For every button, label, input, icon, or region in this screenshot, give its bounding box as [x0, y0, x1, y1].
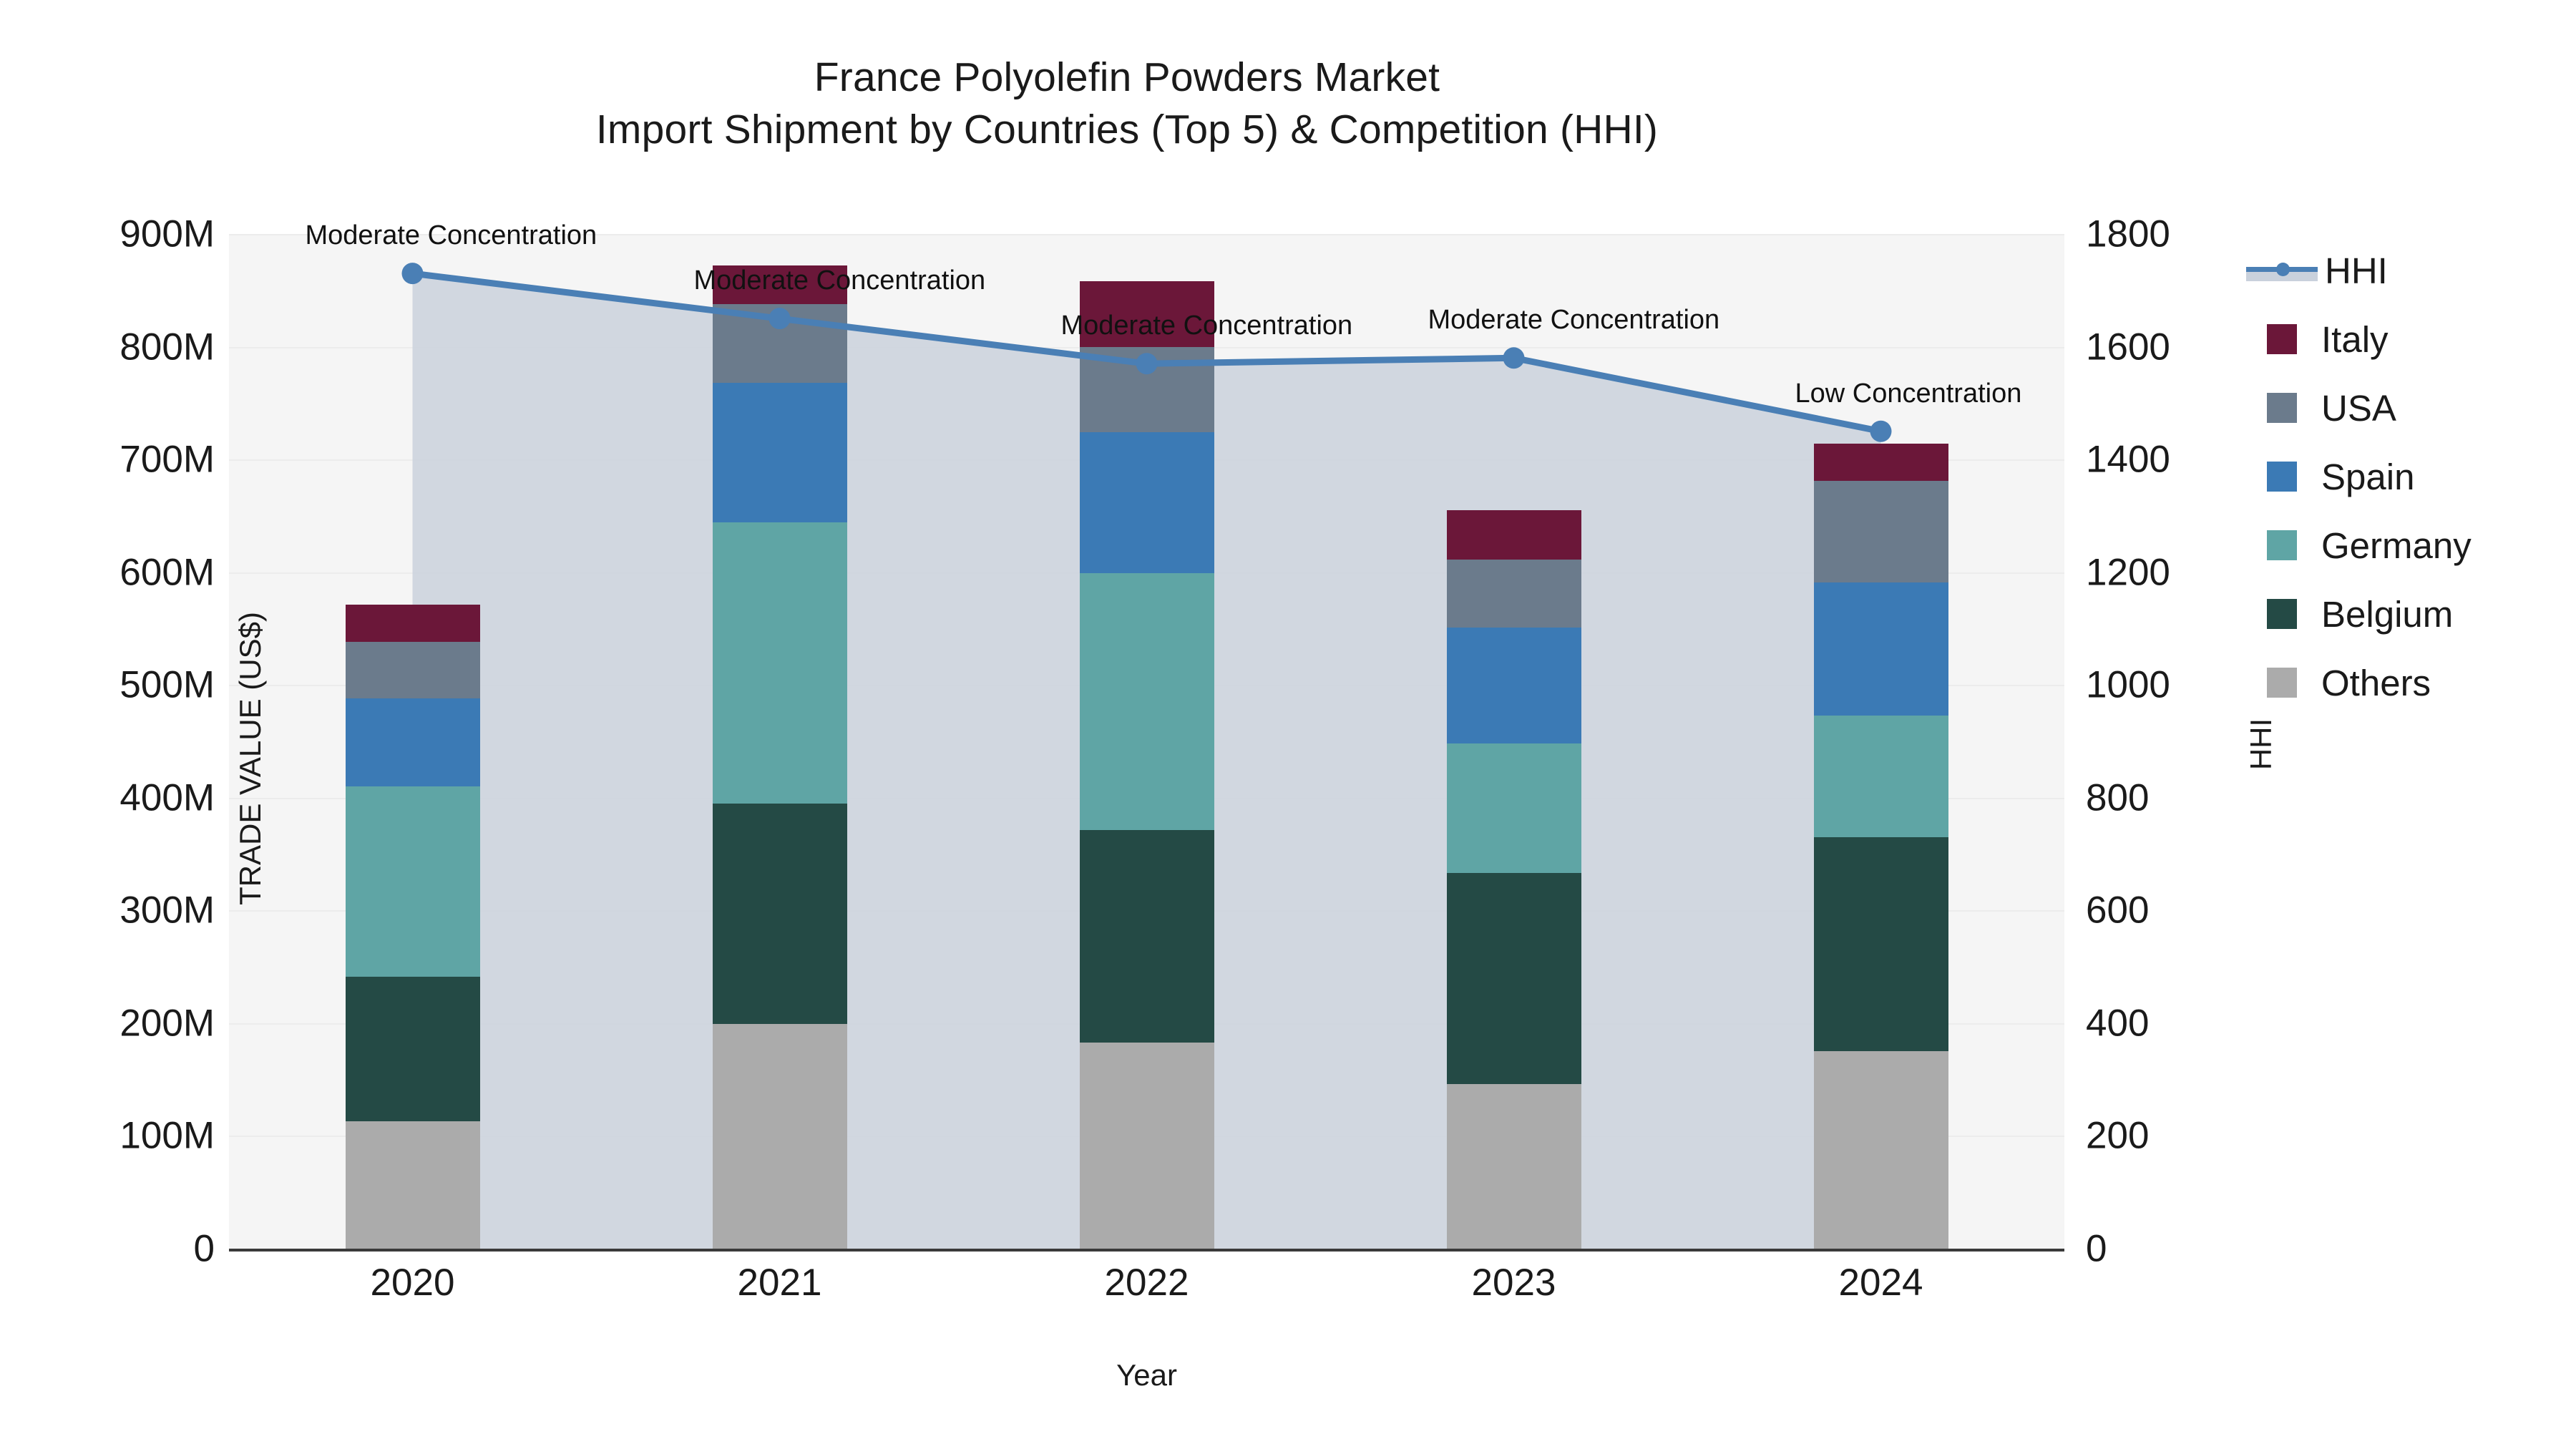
- legend-swatch-others: [2267, 668, 2297, 698]
- legend-swatch-italy: [2267, 324, 2297, 354]
- legend-item-belgium[interactable]: Belgium: [2267, 580, 2567, 648]
- bar-segment-others-2020[interactable]: [346, 1121, 480, 1249]
- bar-segment-others-2024[interactable]: [1814, 1051, 1948, 1249]
- bar-segment-spain-2023[interactable]: [1447, 628, 1581, 743]
- legend-line-swatch-hhi: [2246, 260, 2318, 281]
- annotation-2024: Low Concentration: [1795, 379, 2022, 409]
- x-tick-2024: 2024: [1839, 1261, 1923, 1304]
- bar-segment-usa-2023[interactable]: [1447, 560, 1581, 628]
- y-tick-right-400: 400: [2086, 1001, 2149, 1045]
- bar-group-2021[interactable]: [713, 234, 847, 1249]
- bar-segment-germany-2023[interactable]: [1447, 743, 1581, 873]
- y-tick-left-0: 0: [194, 1227, 215, 1271]
- y-tick-left-500M: 500M: [119, 663, 215, 707]
- y-tick-right-0: 0: [2086, 1227, 2107, 1271]
- y-tick-right-200: 200: [2086, 1114, 2149, 1158]
- chart-title-line-2: Import Shipment by Countries (Top 5) & C…: [0, 104, 2254, 156]
- y-tick-right-1800: 1800: [2086, 213, 2170, 256]
- legend-label-spain: Spain: [2321, 459, 2414, 495]
- y-axis-left-label: TRADE VALUE (US$): [233, 329, 268, 1188]
- legend-item-usa[interactable]: USA: [2267, 374, 2567, 442]
- legend-item-spain[interactable]: Spain: [2267, 442, 2567, 511]
- bar-segment-usa-2022[interactable]: [1080, 347, 1214, 433]
- bar-segment-germany-2024[interactable]: [1814, 716, 1948, 837]
- bar-segment-usa-2020[interactable]: [346, 642, 480, 698]
- bar-segment-usa-2024[interactable]: [1814, 481, 1948, 582]
- bar-segment-germany-2022[interactable]: [1080, 573, 1214, 830]
- bar-group-2020[interactable]: [346, 234, 480, 1249]
- x-tick-2020: 2020: [371, 1261, 455, 1304]
- bar-group-2023[interactable]: [1447, 234, 1581, 1249]
- chart-figure: France Polyolefin Powders Market Import …: [0, 0, 2576, 1449]
- legend-marker-dot: [2276, 263, 2290, 276]
- annotation-2021: Moderate Concentration: [694, 265, 986, 296]
- y-tick-left-900M: 900M: [119, 213, 215, 256]
- bar-segment-belgium-2024[interactable]: [1814, 837, 1948, 1051]
- bar-segment-spain-2021[interactable]: [713, 383, 847, 522]
- legend-label-germany: Germany: [2321, 527, 2472, 564]
- legend-label-belgium: Belgium: [2321, 596, 2453, 633]
- x-tick-2021: 2021: [738, 1261, 822, 1304]
- legend-item-germany[interactable]: Germany: [2267, 511, 2567, 580]
- y-tick-right-1400: 1400: [2086, 438, 2170, 482]
- legend-item-italy[interactable]: Italy: [2267, 305, 2567, 374]
- bar-segment-others-2023[interactable]: [1447, 1084, 1581, 1249]
- bar-segment-others-2022[interactable]: [1080, 1043, 1214, 1249]
- y-tick-left-700M: 700M: [119, 438, 215, 482]
- bar-segment-spain-2022[interactable]: [1080, 432, 1214, 573]
- bar-segment-others-2021[interactable]: [713, 1024, 847, 1249]
- y-tick-left-100M: 100M: [119, 1114, 215, 1158]
- y-tick-left-300M: 300M: [119, 889, 215, 932]
- x-tick-2023: 2023: [1472, 1261, 1556, 1304]
- bar-group-2022[interactable]: [1080, 234, 1214, 1249]
- legend-swatch-belgium: [2267, 599, 2297, 629]
- bar-segment-italy-2020[interactable]: [346, 605, 480, 642]
- y-tick-left-600M: 600M: [119, 550, 215, 594]
- y-tick-right-1000: 1000: [2086, 663, 2170, 707]
- chart-title: France Polyolefin Powders Market Import …: [0, 52, 2254, 156]
- x-axis-spine: [229, 1249, 2064, 1252]
- legend-label-italy: Italy: [2321, 321, 2389, 358]
- bar-segment-belgium-2020[interactable]: [346, 977, 480, 1121]
- bar-segment-germany-2020[interactable]: [346, 786, 480, 977]
- plot-area: Moderate ConcentrationModerate Concentra…: [229, 234, 2064, 1249]
- bar-segment-italy-2023[interactable]: [1447, 510, 1581, 560]
- y-tick-left-400M: 400M: [119, 776, 215, 819]
- bar-segment-usa-2021[interactable]: [713, 304, 847, 383]
- bar-segment-belgium-2023[interactable]: [1447, 873, 1581, 1084]
- y-tick-left-200M: 200M: [119, 1001, 215, 1045]
- legend-item-hhi[interactable]: HHI: [2267, 236, 2567, 305]
- bar-segment-belgium-2021[interactable]: [713, 804, 847, 1025]
- x-axis-label: Year: [229, 1358, 2064, 1392]
- y-tick-right-1200: 1200: [2086, 550, 2170, 594]
- annotation-2022: Moderate Concentration: [1061, 311, 1353, 341]
- legend-swatch-spain: [2267, 462, 2297, 492]
- y-tick-left-800M: 800M: [119, 325, 215, 369]
- legend-swatch-germany: [2267, 530, 2297, 560]
- legend-swatch-usa: [2267, 393, 2297, 423]
- x-tick-2022: 2022: [1105, 1261, 1189, 1304]
- annotation-2020: Moderate Concentration: [306, 220, 597, 251]
- bar-segment-spain-2020[interactable]: [346, 698, 480, 786]
- bar-segment-italy-2024[interactable]: [1814, 444, 1948, 481]
- y-tick-right-600: 600: [2086, 889, 2149, 932]
- y-tick-right-1600: 1600: [2086, 325, 2170, 369]
- bar-segment-germany-2021[interactable]: [713, 522, 847, 803]
- bar-segment-spain-2024[interactable]: [1814, 582, 1948, 716]
- legend-item-others[interactable]: Others: [2267, 648, 2567, 717]
- legend-label-others: Others: [2321, 665, 2431, 701]
- chart-legend: HHIItalyUSASpainGermanyBelgiumOthers: [2267, 236, 2567, 717]
- legend-label-usa: USA: [2321, 390, 2396, 426]
- chart-title-line-1: France Polyolefin Powders Market: [0, 52, 2254, 104]
- bar-segment-belgium-2022[interactable]: [1080, 830, 1214, 1042]
- y-tick-right-800: 800: [2086, 776, 2149, 819]
- legend-label-hhi: HHI: [2325, 253, 2388, 289]
- annotation-2023: Moderate Concentration: [1428, 305, 1720, 336]
